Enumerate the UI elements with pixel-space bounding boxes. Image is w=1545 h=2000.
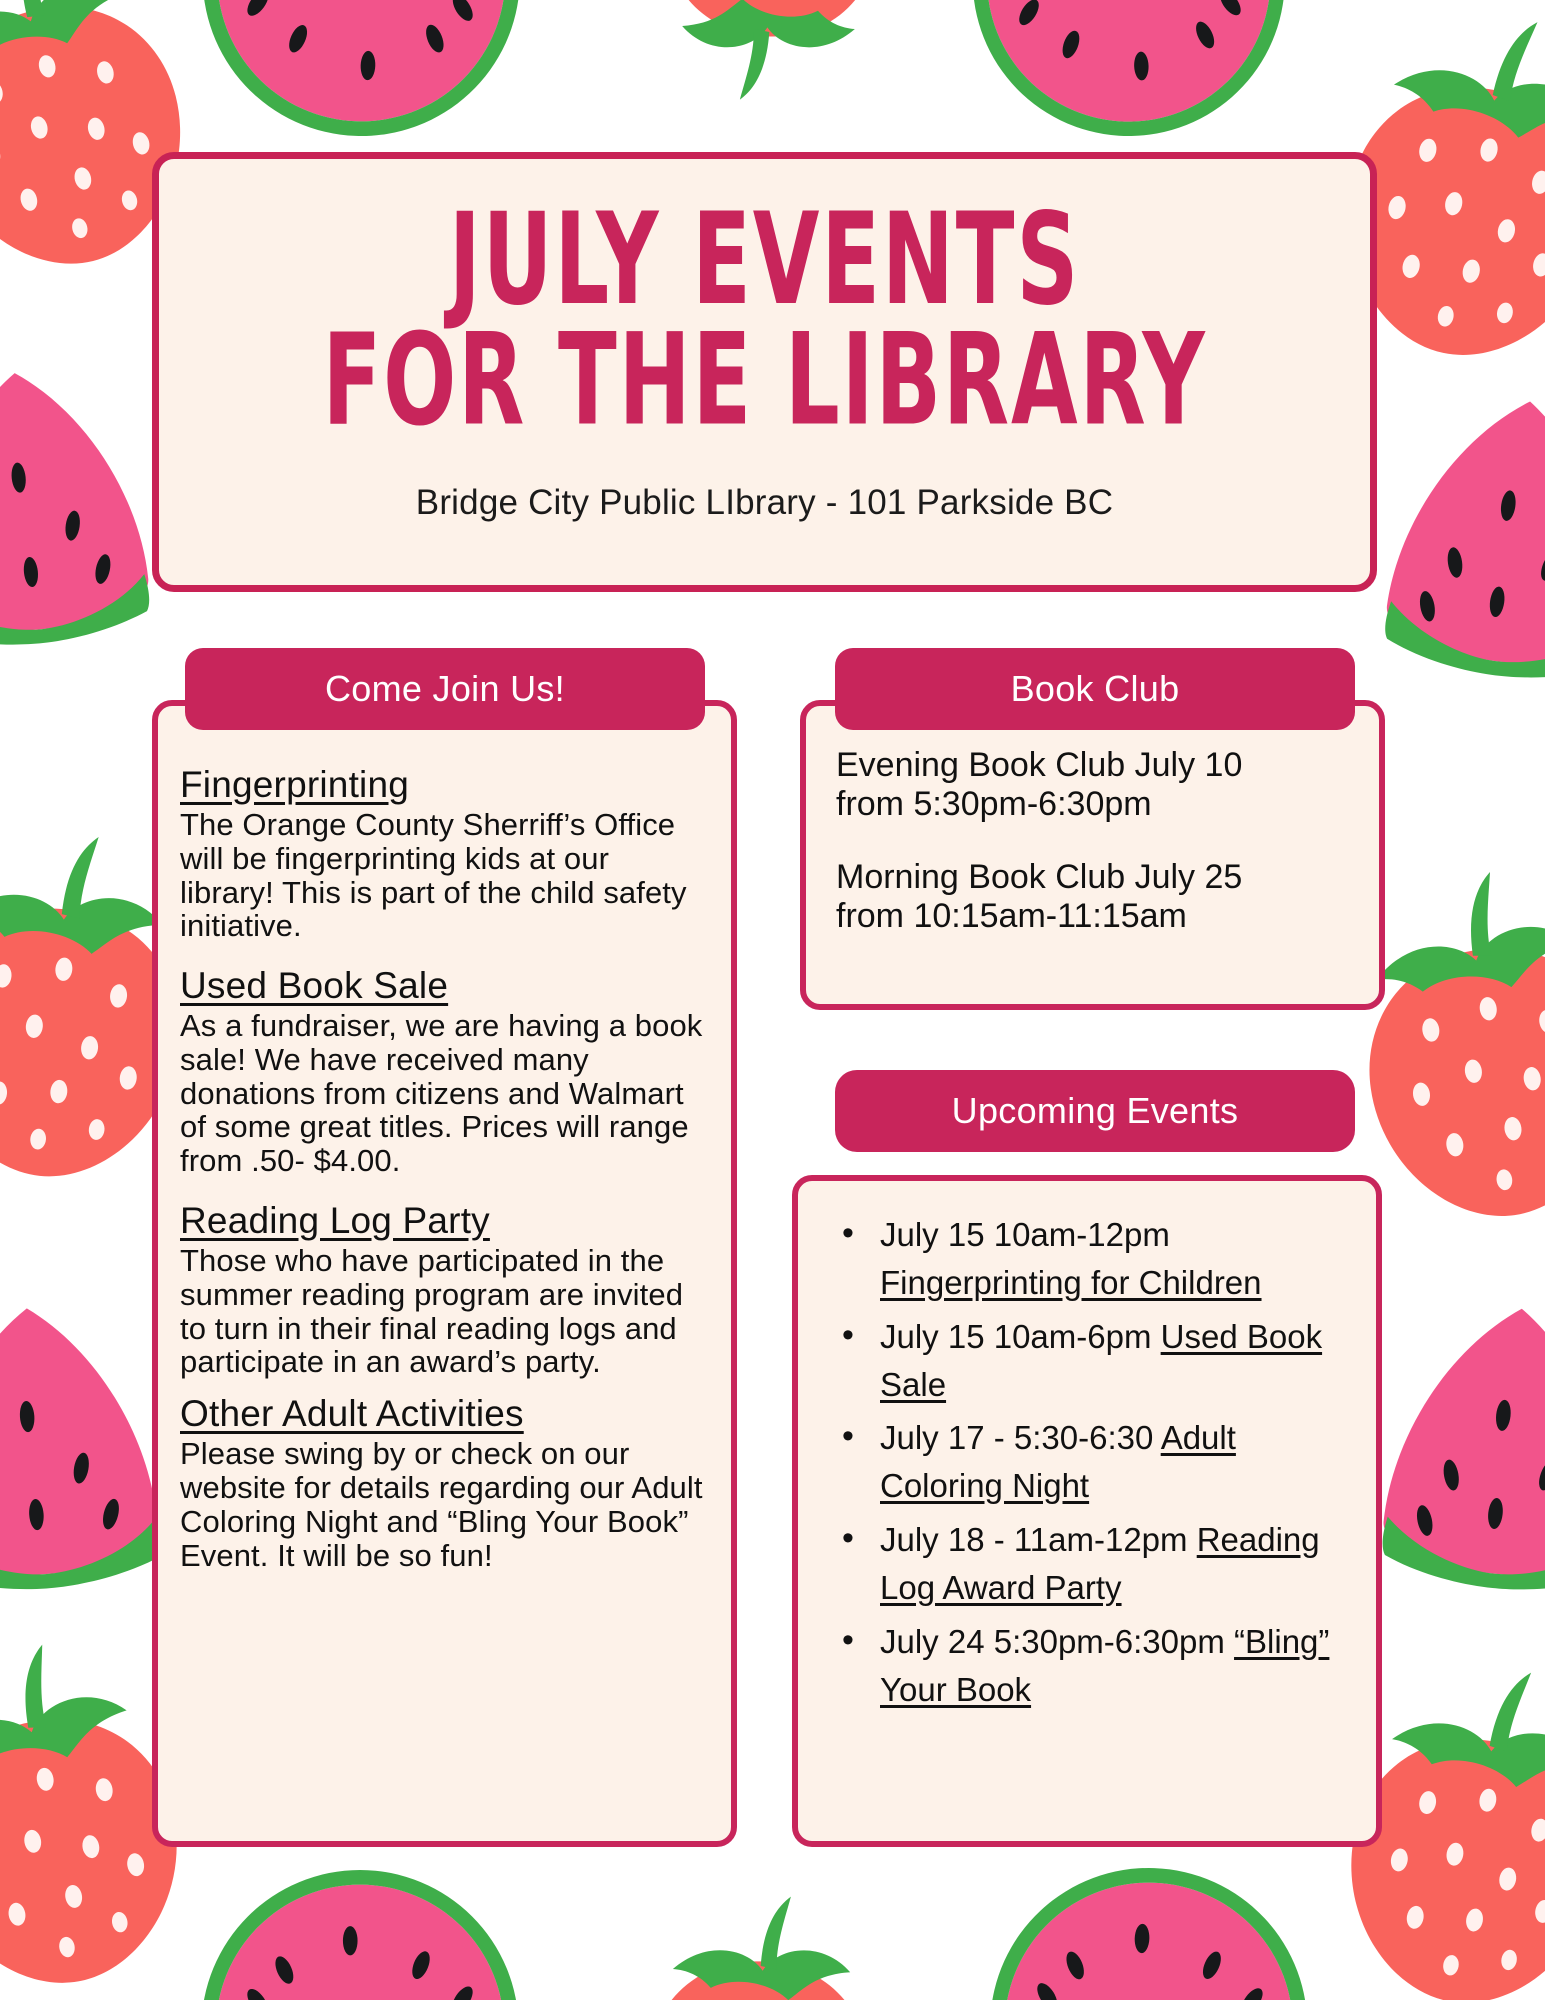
book-club-entry-morning-line1: Morning Book Club July 25 xyxy=(836,858,1349,897)
header-card: JULY EVENTS FOR THE LIBRARY Bridge City … xyxy=(152,152,1377,592)
event-when: July 15 10am-12pm xyxy=(880,1216,1170,1253)
flyer-body: JULY EVENTS FOR THE LIBRARY Bridge City … xyxy=(0,0,1545,2000)
section-heading-reading-log-party: Reading Log Party xyxy=(180,1200,709,1242)
event-when: July 24 5:30pm-6:30pm xyxy=(880,1623,1234,1660)
spacer xyxy=(836,824,1349,858)
section-body-other-adult-activities: Please swing by or check on our website … xyxy=(180,1437,709,1572)
title-line-2: FOR THE LIBRARY xyxy=(322,320,1206,441)
book-club-card: Evening Book Club July 10 from 5:30pm-6:… xyxy=(800,700,1385,1010)
book-club-entry-evening-line2: from 5:30pm-6:30pm xyxy=(836,785,1349,824)
section-heading-used-book-sale: Used Book Sale xyxy=(180,965,709,1007)
upcoming-events-card: July 15 10am-12pm Fingerprinting for Chi… xyxy=(792,1175,1382,1847)
event-when: July 18 - 11am-12pm xyxy=(880,1521,1197,1558)
list-item: July 15 10am-6pm Used Book Sale xyxy=(824,1313,1350,1409)
upcoming-events-banner: Upcoming Events xyxy=(835,1070,1355,1152)
book-club-banner: Book Club xyxy=(835,648,1355,730)
event-when: July 15 10am-6pm xyxy=(880,1318,1161,1355)
come-join-us-card: Fingerprinting The Orange County Sherrif… xyxy=(152,700,737,1847)
come-join-us-banner-label: Come Join Us! xyxy=(325,668,565,710)
section-body-fingerprinting: The Orange County Sherriff’s Office will… xyxy=(180,808,709,943)
list-item: July 15 10am-12pm Fingerprinting for Chi… xyxy=(824,1211,1350,1307)
section-body-used-book-sale: As a fundraiser, we are having a book sa… xyxy=(180,1009,709,1178)
event-name: Fingerprinting for Children xyxy=(880,1264,1262,1301)
book-club-entry-morning-line2: from 10:15am-11:15am xyxy=(836,897,1349,936)
upcoming-events-banner-label: Upcoming Events xyxy=(952,1090,1239,1132)
come-join-us-banner: Come Join Us! xyxy=(185,648,705,730)
list-item: July 18 - 11am-12pm Reading Log Award Pa… xyxy=(824,1516,1350,1612)
section-body-reading-log-party: Those who have participated in the summe… xyxy=(180,1244,709,1379)
event-when: July 17 - 5:30-6:30 xyxy=(880,1419,1161,1456)
section-heading-fingerprinting: Fingerprinting xyxy=(180,764,709,806)
upcoming-events-list: July 15 10am-12pm Fingerprinting for Chi… xyxy=(824,1211,1350,1713)
section-heading-other-adult-activities: Other Adult Activities xyxy=(180,1393,709,1435)
list-item: July 24 5:30pm-6:30pm “Bling” Your Book xyxy=(824,1618,1350,1714)
list-item: July 17 - 5:30-6:30 Adult Coloring Night xyxy=(824,1414,1350,1510)
book-club-banner-label: Book Club xyxy=(1011,668,1180,710)
page-subtitle: Bridge City Public LIbrary - 101 Parksid… xyxy=(416,483,1113,523)
book-club-entry-evening-line1: Evening Book Club July 10 xyxy=(836,746,1349,785)
page-title: JULY EVENTS FOR THE LIBRARY xyxy=(322,199,1206,440)
